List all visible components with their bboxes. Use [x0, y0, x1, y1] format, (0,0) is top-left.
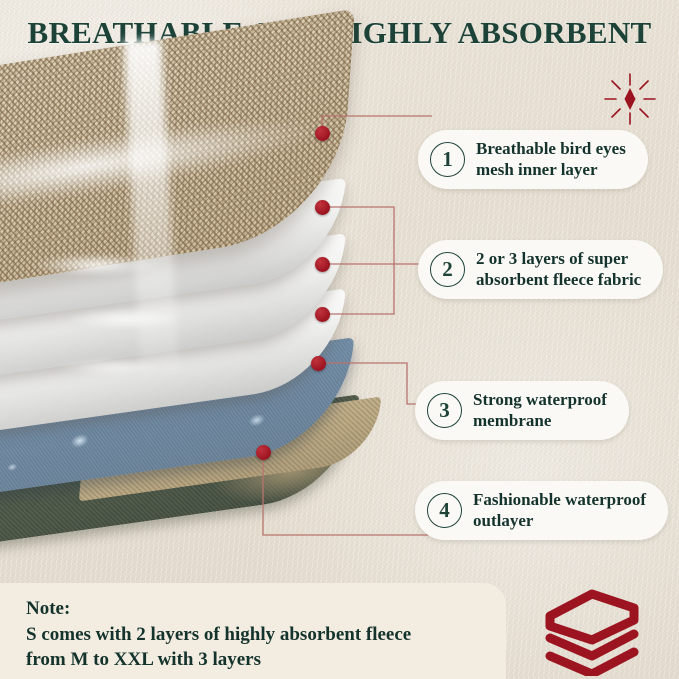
callout-3[interactable]: 3 Strong waterproof membrane — [415, 381, 629, 440]
note-title: Note: — [26, 597, 506, 622]
callout-badge-3: 3 — [427, 393, 462, 428]
callout-4[interactable]: 4 Fashionable waterproof outlayer — [415, 481, 668, 540]
note-card: Note: S comes with 2 layers of highly ab… — [0, 583, 506, 679]
callout-badge-4: 4 — [427, 493, 462, 528]
callout-text-4: Fashionable waterproof outlayer — [473, 490, 646, 531]
connector-dot-2c — [315, 307, 330, 322]
callout-text-1: Breathable bird eyes mesh inner layer — [476, 139, 626, 180]
infographic-canvas: BREATHABLE AND HIGHLY ABSORBENT — [0, 0, 679, 679]
connector-dot-4 — [256, 445, 271, 460]
callout-connectors — [0, 0, 679, 679]
callout-badge-2: 2 — [430, 252, 465, 287]
callout-text-2: 2 or 3 layers of super absorbent fleece … — [476, 249, 641, 290]
callout-text-3: Strong waterproof membrane — [473, 390, 607, 431]
callout-1[interactable]: 1 Breathable bird eyes mesh inner layer — [418, 130, 648, 189]
connector-dot-3 — [311, 356, 326, 371]
connector-dot-2a — [315, 200, 330, 215]
stacked-layers-icon — [540, 582, 644, 676]
callout-2[interactable]: 2 2 or 3 layers of super absorbent fleec… — [418, 240, 663, 299]
note-line-2: from M to XXL with 3 layers — [26, 647, 506, 672]
note-line-1: S comes with 2 layers of highly absorben… — [26, 622, 506, 647]
connector-dot-1 — [315, 126, 330, 141]
connector-dot-2b — [315, 257, 330, 272]
callout-badge-1: 1 — [430, 142, 465, 177]
